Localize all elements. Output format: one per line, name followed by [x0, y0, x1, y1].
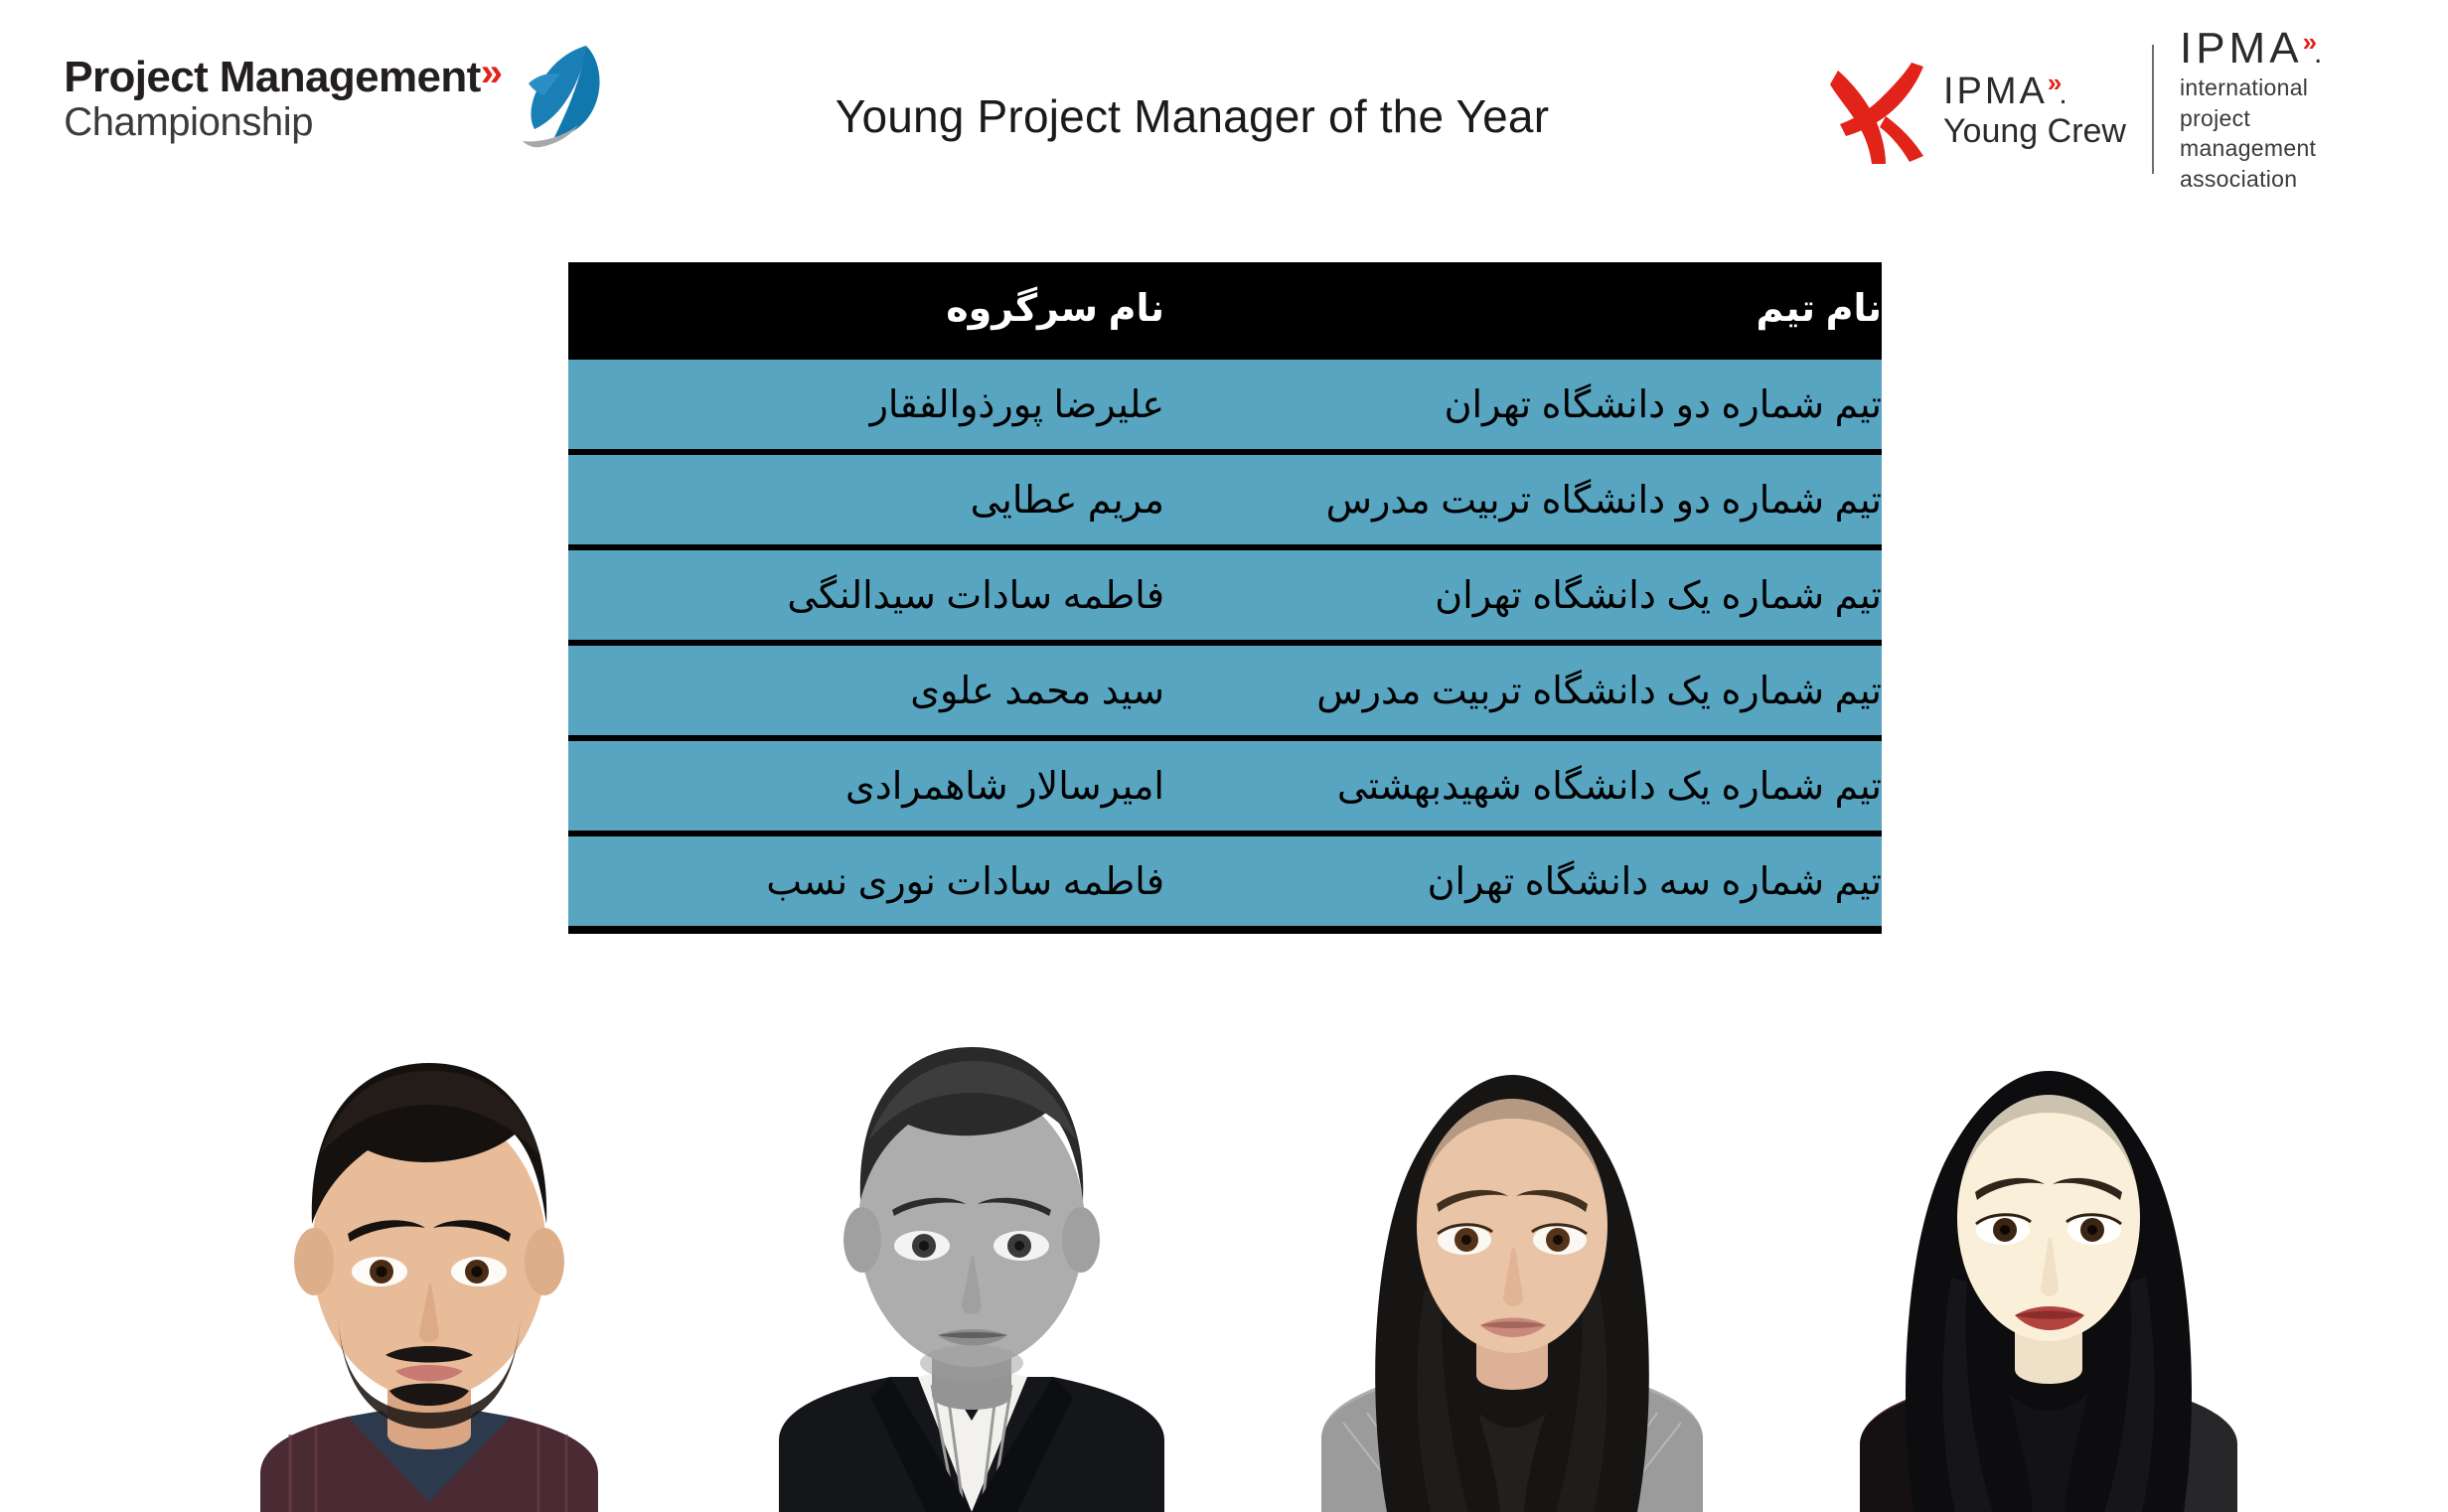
column-header-leader: نام سرگروه: [568, 262, 1164, 357]
cell-team-name: تیم شماره یک دانشگاه شهیدبهشتی: [1164, 738, 1882, 833]
table-body: تیم شماره دو دانشگاه تهران علیرضا پورذوا…: [568, 357, 1882, 930]
portrait-photo-2: [767, 995, 1176, 1512]
table-row: تیم شماره یک دانشگاه تربیت مدرس سید محمد…: [568, 643, 1882, 738]
ipma-young-crew-logo: IPMA». Young Crew: [1828, 45, 2126, 174]
table-header-row: نام تیم نام سرگروه: [568, 262, 1882, 357]
cell-leader-name: سید محمد علوی: [568, 643, 1164, 738]
ipma-sub-line-3: management: [2180, 133, 2326, 163]
logo-divider: [2152, 45, 2154, 174]
table-row: تیم شماره یک دانشگاه شهیدبهشتی امیرسالار…: [568, 738, 1882, 833]
cell-team-name: تیم شماره یک دانشگاه تهران: [1164, 547, 1882, 643]
ipma-sub-line-2: project: [2180, 103, 2326, 133]
ipma-wordmark: IPMA: [2180, 24, 2303, 73]
cell-team-name: تیم شماره سه دانشگاه تهران: [1164, 833, 1882, 930]
teams-table: نام تیم نام سرگروه تیم شماره دو دانشگاه …: [568, 262, 1882, 934]
ipma-yc-wordmark: IPMA: [1943, 71, 2048, 112]
pmc-logo: Project Management» Championship: [62, 38, 618, 157]
cell-leader-name: مریم عطایی: [568, 452, 1164, 547]
portrait-photo-4: [1850, 995, 2247, 1512]
cell-team-name: تیم شماره یک دانشگاه تربیت مدرس: [1164, 643, 1882, 738]
slide-header: Project Management» Championship Young P…: [0, 0, 2448, 248]
ipma-sub-line-1: international: [2180, 73, 2326, 102]
table-head: نام تیم نام سرگروه: [568, 262, 1882, 357]
ipma-x-figure-icon: [1828, 51, 1931, 168]
pmc-chevron-icon: »: [481, 51, 499, 94]
table-row: تیم شماره سه دانشگاه تهران فاطمه سادات ن…: [568, 833, 1882, 930]
portrait-photo-strip: [0, 944, 2448, 1512]
ipma-young-crew-label: Young Crew: [1943, 113, 2126, 150]
page-title: Young Project Manager of the Year: [695, 89, 1689, 143]
pmc-line1-text: Project Management: [64, 53, 481, 101]
table-row: تیم شماره یک دانشگاه تهران فاطمه سادات س…: [568, 547, 1882, 643]
cell-team-name: تیم شماره دو دانشگاه تربیت مدرس: [1164, 452, 1882, 547]
pmc-line2-text: Championship: [64, 102, 499, 143]
pmc-swoosh-icon: [515, 42, 618, 153]
ipma-association-logo: IPMA». international project management …: [2180, 25, 2326, 194]
portrait-photo-1: [221, 985, 638, 1512]
portrait-photo-3: [1313, 995, 1711, 1512]
cell-leader-name: فاطمه سادات نوری نسب: [568, 833, 1164, 930]
cell-team-name: تیم شماره دو دانشگاه تهران: [1164, 357, 1882, 452]
table-row: تیم شماره دو دانشگاه تهران علیرضا پورذوا…: [568, 357, 1882, 452]
ipma-yc-dot: .: [2059, 77, 2069, 110]
ipma-dot: .: [2314, 37, 2326, 70]
cell-leader-name: امیرسالار شاهمرادی: [568, 738, 1164, 833]
ipma-yc-chevron-icon: »: [2048, 68, 2059, 97]
cell-leader-name: علیرضا پورذوالفقار: [568, 357, 1164, 452]
ipma-chevron-icon: »: [2303, 27, 2314, 57]
column-header-team: نام تیم: [1164, 262, 1882, 357]
ipma-logo-group: IPMA». Young Crew IPMA». international p…: [1828, 30, 2404, 189]
table-row: تیم شماره دو دانشگاه تربیت مدرس مریم عطا…: [568, 452, 1882, 547]
ipma-sub-line-4: association: [2180, 164, 2326, 194]
cell-leader-name: فاطمه سادات سیدالنگی: [568, 547, 1164, 643]
